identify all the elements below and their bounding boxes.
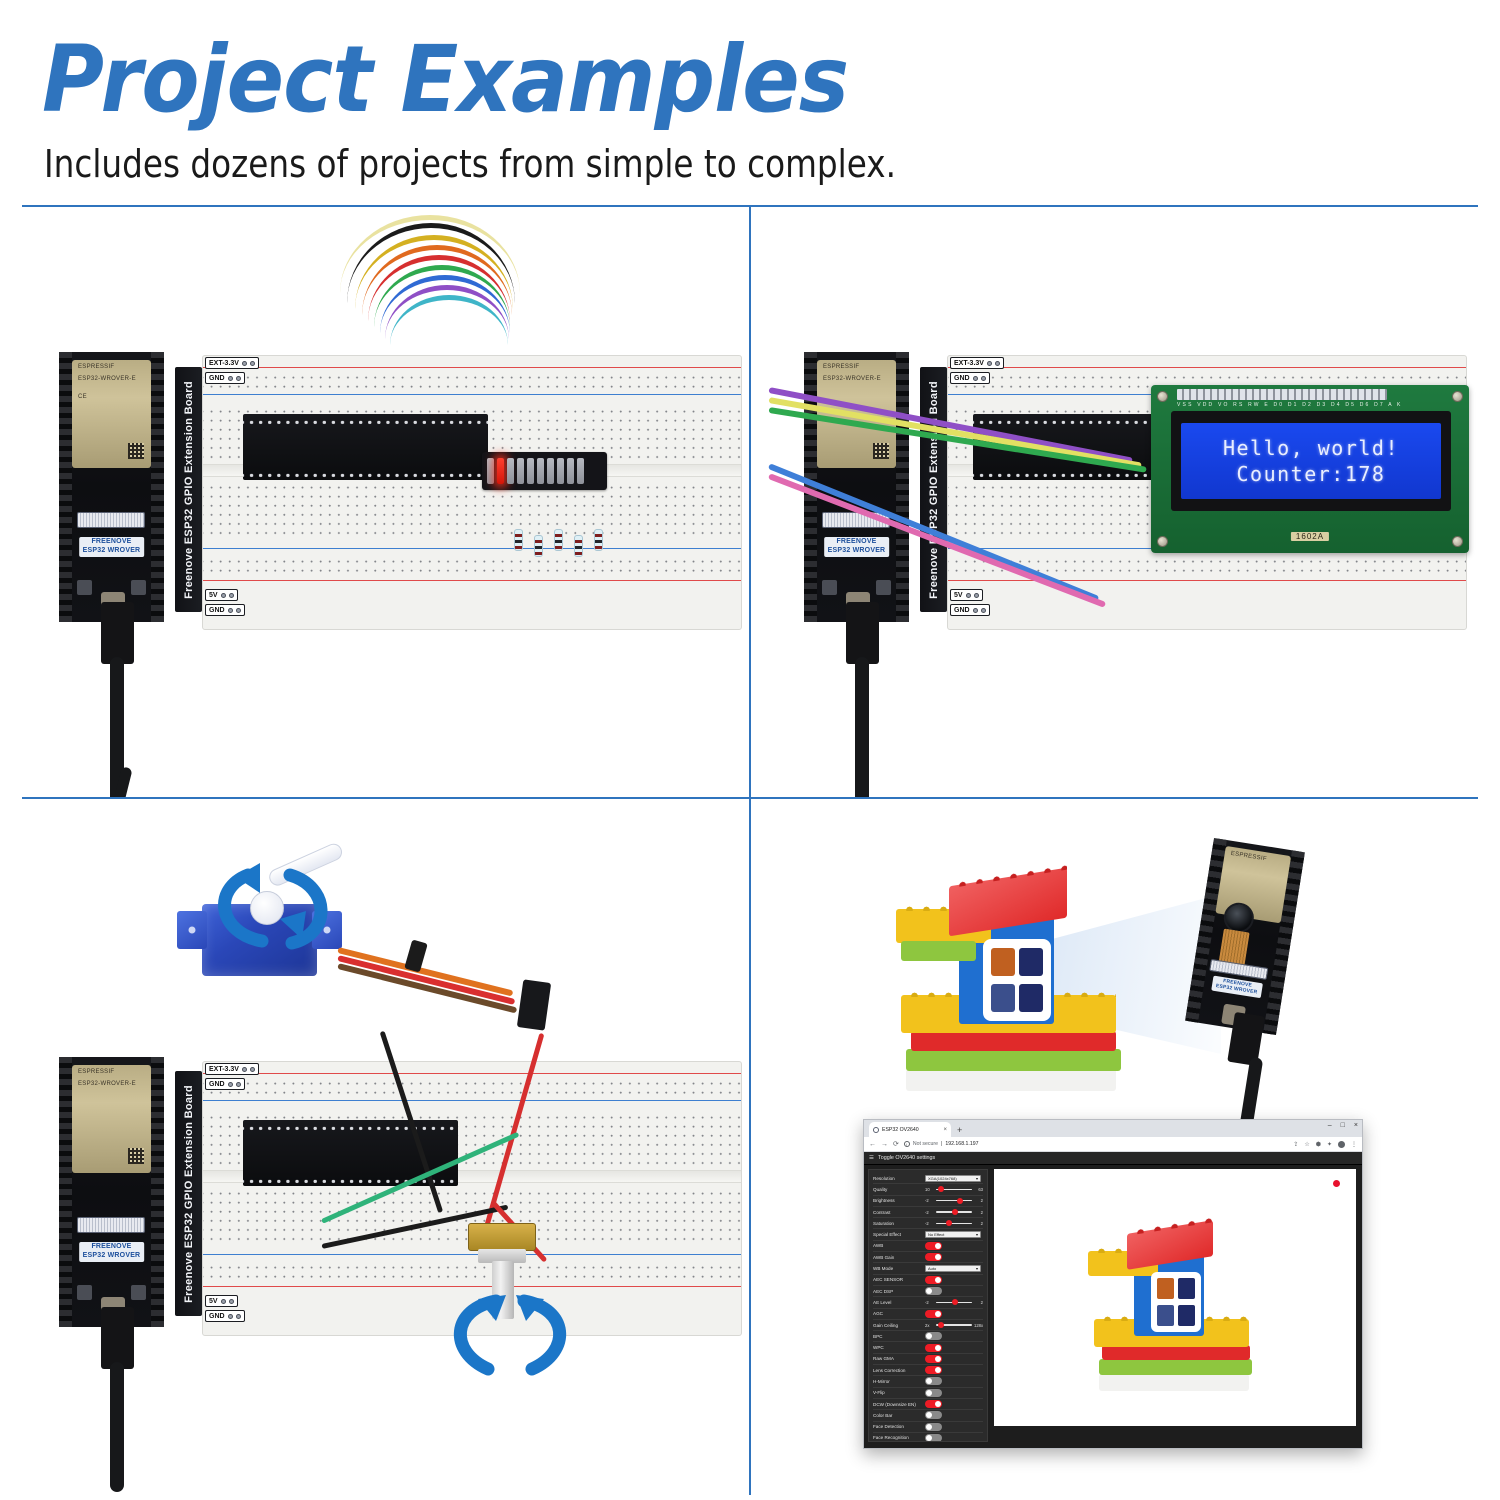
toggle-knob	[926, 1424, 932, 1430]
camera-ribbon-connector	[77, 512, 145, 528]
panel-camera-web-server: ESPRESSIF FREENOVE ESP32 WROVER ESP32 OV…	[751, 799, 1478, 1495]
resistor	[594, 529, 603, 551]
toolbar-icons: ⇪ ☆ ⬢ ✦ ⋮	[1293, 1141, 1357, 1148]
slider-knob[interactable]	[957, 1198, 963, 1204]
slider-ae-level[interactable]: -22	[925, 1300, 983, 1305]
freenove-line2: ESP32 WROVER	[83, 1252, 141, 1259]
slider-knob[interactable]	[952, 1299, 958, 1305]
setting-control	[925, 1411, 983, 1419]
rail-badge-gnd-top: GND	[950, 372, 990, 384]
toggle-dcw-downsize-en-[interactable]	[925, 1400, 942, 1408]
reset-button[interactable]	[131, 1285, 146, 1300]
slider-min-label: 10	[925, 1187, 934, 1192]
rail-badge-gnd-bottom: GND	[950, 604, 990, 616]
module-name-label: ESP32-WROVER-E	[78, 1081, 136, 1087]
back-icon[interactable]: ←	[869, 1141, 876, 1148]
toggle-knob	[935, 1356, 941, 1362]
bb-rail-red-bottom	[203, 1286, 741, 1287]
setting-control: No Effect▾	[925, 1231, 983, 1238]
freenove-silkscreen: FREENOVE ESP32 WROVER	[79, 537, 145, 557]
module-brand-label: ESPRESSIF	[78, 364, 114, 370]
gpio-pins-top	[243, 416, 488, 425]
toggle-lens-correction[interactable]	[925, 1366, 942, 1374]
freenove-line2: ESP32 WROVER	[83, 547, 141, 554]
select-value: Auto	[928, 1266, 936, 1271]
setting-control	[925, 1389, 983, 1397]
slider-contrast[interactable]: -22	[925, 1210, 983, 1215]
lego-base-green	[906, 1049, 1121, 1071]
rail-label-gnd-bottom: GND	[954, 607, 970, 614]
lego-shelf-green	[901, 941, 976, 961]
setting-control	[925, 1287, 983, 1295]
setting-row: WB ModeAuto▾	[873, 1263, 983, 1274]
bb-rail-blue-top	[203, 1100, 741, 1101]
lcd-pin-header	[1177, 389, 1387, 400]
resistor	[574, 535, 583, 557]
new-tab-icon[interactable]: +	[957, 1126, 962, 1137]
rail-badge-5v: 5V	[205, 1295, 238, 1307]
usb-cable	[110, 1362, 124, 1492]
setting-label: V-Flip	[873, 1390, 925, 1395]
slider-max-label: 2	[974, 1221, 983, 1226]
stream-lego-base-green	[1099, 1359, 1252, 1375]
rail-badge-ext33v: EXT-3.3V	[950, 357, 1004, 369]
camera-video-stream	[994, 1169, 1356, 1426]
slider-knob[interactable]	[938, 1322, 944, 1328]
setting-control: XGA(1024x768)▾	[925, 1175, 983, 1182]
ce-mark-label: CE	[78, 394, 87, 400]
toggle-knob	[935, 1254, 941, 1260]
select-resolution[interactable]: XGA(1024x768)▾	[925, 1175, 981, 1182]
slider-knob[interactable]	[938, 1186, 944, 1192]
setting-row: DCW (Downsize EN)	[873, 1399, 983, 1410]
toggle-bpc[interactable]	[925, 1332, 942, 1340]
lcd-line-1: Hello, world!	[1223, 436, 1399, 460]
url-separator: |	[941, 1141, 942, 1147]
module-qr-code	[128, 443, 144, 459]
share-icon[interactable]: ⇪	[1293, 1141, 1298, 1148]
setting-label: AEC DSP	[873, 1289, 925, 1294]
pin-rail-right	[151, 1057, 164, 1327]
setting-row: AE Level-22	[873, 1297, 983, 1308]
extension-board-label: Freenove ESP32 GPIO Extension Board	[928, 381, 940, 599]
led-segment	[507, 458, 514, 484]
gpio-pins-top	[243, 1122, 458, 1131]
rail-badge-5v: 5V	[205, 589, 238, 601]
slider-gain-ceiling[interactable]: 2x128x	[925, 1323, 983, 1328]
toggle-knob	[935, 1367, 941, 1373]
rotation-arrow-servo-right	[272, 861, 352, 951]
favicon-icon	[873, 1127, 879, 1133]
lego-base-white	[906, 1069, 1116, 1091]
setting-row: Gain Ceiling2x128x	[873, 1320, 983, 1331]
browser-tab-bar: ESP32 OV2640 × + – □ ×	[864, 1120, 1362, 1137]
freenove-silkscreen: FREENOVE ESP32 WROVER	[1211, 976, 1263, 998]
boot-button[interactable]	[822, 580, 837, 595]
slider-max-label: 2	[974, 1198, 983, 1203]
panel-servo-potentiometer: ESPRESSIF ESP32-WROVER-E FREENOVE ESP32 …	[22, 799, 749, 1495]
maximize-icon[interactable]: □	[1341, 1122, 1345, 1129]
usb-cable-plug	[101, 602, 134, 664]
window-pane-orange	[1157, 1278, 1174, 1299]
rotation-arrow-pot-right	[510, 1289, 588, 1379]
toggle-awb[interactable]	[925, 1242, 942, 1250]
setting-row: BPC	[873, 1331, 983, 1342]
servo-mount-hole	[189, 927, 196, 934]
usb-cable-plug	[101, 1307, 134, 1369]
hamburger-icon[interactable]: ☰	[869, 1155, 874, 1161]
lcd1602-module: VSS VDD VO RS RW E D0 D1 D2 D3 D4 D5 D6 …	[1151, 385, 1469, 553]
toggle-settings-bar[interactable]: ☰ Toggle OV2640 settings	[864, 1152, 1362, 1165]
setting-control	[925, 1344, 983, 1352]
led-segment	[557, 458, 564, 484]
toggle-knob	[935, 1277, 941, 1283]
resistor	[554, 529, 563, 551]
reset-button[interactable]	[876, 580, 891, 595]
boot-button[interactable]	[77, 1285, 92, 1300]
esp32-camera-board: ESPRESSIF FREENOVE ESP32 WROVER	[1185, 838, 1305, 1035]
pin-rail-right	[896, 352, 909, 622]
setting-row: WPC	[873, 1342, 983, 1353]
rail-badge-5v: 5V	[950, 589, 983, 601]
toggle-knob	[926, 1390, 932, 1396]
toggle-aec-sensor[interactable]	[925, 1276, 942, 1284]
slider-min-label: -2	[925, 1198, 934, 1203]
web-page-body: ☰ Toggle OV2640 settings ResolutionXGA(1…	[864, 1152, 1362, 1448]
slider-max-label: 2	[974, 1210, 983, 1215]
led-segment	[527, 458, 534, 484]
gpio-extension-board: Freenove ESP32 GPIO Extension Board	[175, 367, 202, 612]
slider-min-label: 2x	[925, 1323, 934, 1328]
info-icon[interactable]: i	[904, 1141, 910, 1147]
chevron-down-icon: ▾	[976, 1266, 978, 1271]
panel-led-bar-graph: ESPRESSIF ESP32-WROVER-E CE FREENOVE ESP…	[22, 207, 749, 797]
setting-row: Saturation-22	[873, 1218, 983, 1229]
led-segment	[547, 458, 554, 484]
module-name-label: ESP32-WROVER-E	[78, 376, 136, 382]
stream-lego-base-white	[1099, 1374, 1249, 1391]
window-controls: – □ ×	[1328, 1122, 1358, 1129]
setting-row: ResolutionXGA(1024x768)▾	[873, 1173, 983, 1184]
slider-min-label: -2	[925, 1210, 934, 1215]
rail-label-ext33v: EXT-3.3V	[209, 360, 239, 367]
extension-board-label: Freenove ESP32 GPIO Extension Board	[183, 1085, 195, 1303]
slider-knob[interactable]	[946, 1220, 952, 1226]
rail-label-gnd-bottom: GND	[209, 607, 225, 614]
setting-row: Special EffectNo Effect▾	[873, 1229, 983, 1240]
toggle-knob	[935, 1311, 941, 1317]
setting-control	[925, 1366, 983, 1374]
lego-studs	[949, 863, 1067, 889]
url-text: 192.168.1.197	[945, 1141, 978, 1147]
bb-rail-red-top	[948, 367, 1466, 368]
setting-label: H-Mirror	[873, 1379, 925, 1384]
setting-control: 1063	[925, 1187, 983, 1192]
lcd-screw-bl	[1157, 536, 1168, 547]
toggle-v-flip[interactable]	[925, 1389, 942, 1397]
gpio-extension-board: Freenove ESP32 GPIO Extension Board	[920, 367, 947, 612]
setting-label: Quality	[873, 1187, 925, 1192]
bb-rail-blue-bottom	[203, 548, 741, 549]
stream-lego-door-window	[1151, 1272, 1201, 1332]
slider-track[interactable]	[936, 1200, 972, 1201]
potentiometer-body[interactable]	[468, 1223, 536, 1251]
bb-power-holes-bottom	[203, 1260, 741, 1280]
extension-board-label: Freenove ESP32 GPIO Extension Board	[183, 381, 195, 599]
recording-indicator-dot	[1333, 1180, 1340, 1187]
toggle-color-bar[interactable]	[925, 1411, 942, 1419]
reload-icon[interactable]: ⟳	[893, 1140, 899, 1148]
led-segment	[577, 458, 584, 484]
slider-min-label: -2	[925, 1221, 934, 1226]
settings-rows: ResolutionXGA(1024x768)▾Quality1063Brigh…	[873, 1173, 983, 1442]
window-pane-dark-2	[1178, 1305, 1195, 1326]
bb-rail-blue-top	[203, 394, 741, 395]
select-value: No Effect	[928, 1232, 944, 1237]
setting-label: Lens Correction	[873, 1368, 925, 1373]
lcd-bezel: Hello, world! Counter:178	[1171, 411, 1451, 511]
rail-label-gnd-bottom: GND	[209, 1313, 225, 1320]
setting-label: DCW (Downsize EN)	[873, 1402, 925, 1407]
lcd-part-label: 1602A	[1291, 532, 1329, 541]
puzzle-icon[interactable]: ⬢	[1316, 1141, 1321, 1148]
setting-control: 2x128x	[925, 1323, 983, 1328]
setting-row: AEC DSP	[873, 1286, 983, 1297]
module-qr-code	[128, 1148, 144, 1164]
rail-label-5v: 5V	[954, 592, 963, 599]
slider-track[interactable]	[936, 1324, 972, 1325]
setting-row: V-Flip	[873, 1388, 983, 1399]
setting-label: WPC	[873, 1345, 925, 1350]
toggle-face-recognition[interactable]	[925, 1434, 942, 1442]
led-bar-graph-module	[482, 452, 607, 490]
forward-icon[interactable]: →	[881, 1141, 888, 1148]
rail-label-5v: 5V	[209, 1298, 218, 1305]
select-value: XGA(1024x768)	[928, 1176, 957, 1181]
rotation-arrow-pot-left	[434, 1289, 512, 1379]
setting-label: Special Effect	[873, 1232, 925, 1237]
window-pane-dark-1	[1178, 1278, 1195, 1299]
setting-row: Brightness-22	[873, 1196, 983, 1207]
usb-cable-plug	[846, 602, 879, 664]
freenove-silkscreen: FREENOVE ESP32 WROVER	[824, 537, 890, 557]
toggle-wpc[interactable]	[925, 1344, 942, 1352]
freenove-line2: ESP32 WROVER	[828, 547, 886, 554]
module-qr-code	[873, 443, 889, 459]
setting-label: AWB	[873, 1243, 925, 1248]
breadboard	[202, 355, 742, 630]
setting-control	[925, 1400, 983, 1408]
page-title: Project Examples	[42, 26, 848, 133]
toggle-knob	[935, 1401, 941, 1407]
setting-row: Quality1063	[873, 1184, 983, 1195]
setting-row: Raw GMA	[873, 1354, 983, 1365]
close-window-icon[interactable]: ×	[1354, 1122, 1358, 1129]
toggle-knob	[926, 1412, 932, 1418]
slider-max-label: 63	[974, 1187, 983, 1192]
setting-label: AE Level	[873, 1300, 925, 1305]
toggle-knob	[935, 1243, 941, 1249]
rail-badge-gnd-top: GND	[205, 1078, 245, 1090]
select-wb-mode[interactable]: Auto▾	[925, 1265, 981, 1272]
lcd-line-2: Counter:178	[1237, 462, 1386, 486]
module-brand-label: ESPRESSIF	[823, 364, 859, 370]
panel-lcd1602: ESPRESSIF ESP32-WROVER-E FREENOVE ESP32 …	[751, 207, 1478, 797]
usb-cable	[855, 657, 869, 797]
led-segment	[497, 458, 504, 484]
module-name-label: ESP32-WROVER-E	[823, 376, 881, 382]
toggle-h-mirror[interactable]	[925, 1377, 942, 1385]
setting-row: Face Recognition	[873, 1433, 983, 1442]
slider-min-label: -2	[925, 1300, 934, 1305]
camera-ribbon-connector	[77, 1217, 145, 1233]
select-special-effect[interactable]: No Effect▾	[925, 1231, 981, 1238]
star-icon[interactable]: ☆	[1304, 1141, 1309, 1148]
setting-control: -22	[925, 1300, 983, 1305]
profile-icon[interactable]	[1338, 1141, 1345, 1148]
tab-close-icon[interactable]: ×	[943, 1127, 947, 1133]
led-segment	[487, 458, 494, 484]
toggle-agc[interactable]	[925, 1310, 942, 1318]
slider-track[interactable]	[936, 1302, 972, 1303]
rail-badge-ext33v: EXT-3.3V	[205, 1063, 259, 1075]
window-pane-blue	[991, 984, 1015, 1012]
toggle-raw-gma[interactable]	[925, 1355, 942, 1363]
slider-knob[interactable]	[952, 1209, 958, 1215]
lcd-screen: Hello, world! Counter:178	[1181, 423, 1441, 499]
freenove-line1: FREENOVE	[91, 538, 131, 545]
pin-rail-right	[151, 352, 164, 622]
pin-rail-left	[59, 1057, 72, 1327]
chevron-down-icon: ▾	[976, 1232, 978, 1237]
menu-icon[interactable]: ⋮	[1351, 1141, 1357, 1148]
browser-tab[interactable]: ESP32 OV2640 ×	[869, 1122, 951, 1137]
stream-lego-base-red	[1102, 1345, 1250, 1360]
slider-track[interactable]	[936, 1189, 972, 1190]
lego-door-window	[983, 939, 1051, 1021]
setting-control	[925, 1242, 983, 1250]
esp32-wrover-module: ESPRESSIF ESP32-WROVER-E CE	[72, 360, 151, 468]
setting-row: AWB	[873, 1241, 983, 1252]
setting-row: AEC SENSOR	[873, 1275, 983, 1286]
address-bar[interactable]: i Not secure | 192.168.1.197	[904, 1141, 1288, 1147]
setting-label: Face Detection	[873, 1424, 925, 1429]
led-segment	[537, 458, 544, 484]
esp32-board-led: ESPRESSIF ESP32-WROVER-E CE FREENOVE ESP…	[59, 352, 164, 622]
rail-label-gnd-top: GND	[209, 375, 225, 382]
lcd-pin-labels: VSS VDD VO RS RW E D0 D1 D2 D3 D4 D5 D6 …	[1177, 402, 1403, 408]
toggle-knob	[935, 1345, 941, 1351]
slider-max-label: 128x	[974, 1323, 983, 1328]
rail-label-5v: 5V	[209, 592, 218, 599]
browser-toolbar: ← → ⟳ i Not secure | 192.168.1.197 ⇪ ☆ ⬢…	[864, 1137, 1362, 1152]
setting-label: Gain Ceiling	[873, 1323, 925, 1328]
chevron-down-icon: ▾	[976, 1176, 978, 1181]
lcd-screw-tl	[1157, 391, 1168, 402]
page-header: Project Examples Includes dozens of proj…	[0, 0, 1500, 200]
setting-row: AWB Gain	[873, 1252, 983, 1263]
setting-row: AGC	[873, 1309, 983, 1320]
setting-row: Lens Correction	[873, 1365, 983, 1376]
slider-brightness[interactable]: -22	[925, 1198, 983, 1203]
ov2640-settings-panel: ResolutionXGA(1024x768)▾Quality1063Brigh…	[868, 1169, 988, 1442]
toggle-face-detection[interactable]	[925, 1423, 942, 1431]
lego-base-red	[911, 1031, 1116, 1051]
browser-window: ESP32 OV2640 × + – □ × ← → ⟳ i Not secur…	[863, 1119, 1363, 1449]
setting-control	[925, 1434, 983, 1442]
setting-label: BPC	[873, 1334, 925, 1339]
lcd-screw-br	[1452, 536, 1463, 547]
setting-label: Resolution	[873, 1176, 925, 1181]
rail-badge-ext33v: EXT-3.3V	[205, 357, 259, 369]
rail-badge-gnd-top: GND	[205, 372, 245, 384]
led-segment	[517, 458, 524, 484]
setting-control	[925, 1310, 983, 1318]
setting-label: AWB Gain	[873, 1255, 925, 1260]
setting-label: AGC	[873, 1311, 925, 1316]
slider-quality[interactable]: 1063	[925, 1187, 983, 1192]
toggle-aec-dsp[interactable]	[925, 1287, 942, 1295]
bb-rail-red-top	[203, 367, 741, 368]
module-brand-label: ESPRESSIF	[78, 1069, 114, 1075]
setting-label: Color Bar	[873, 1413, 925, 1418]
servo-connector	[517, 979, 551, 1030]
rail-label-ext33v: EXT-3.3V	[209, 1066, 239, 1073]
toggle-knob	[926, 1378, 932, 1384]
setting-control	[925, 1276, 983, 1284]
bb-rail-red-bottom	[948, 580, 1466, 581]
rail-label-gnd-top: GND	[954, 375, 970, 382]
window-pane-dark-1	[1019, 948, 1043, 976]
setting-row: Color Bar	[873, 1410, 983, 1421]
setting-control	[925, 1332, 983, 1340]
setting-control: Auto▾	[925, 1265, 983, 1272]
setting-row: H-Mirror	[873, 1376, 983, 1387]
bb-rail-red-bottom	[203, 580, 741, 581]
toggle-settings-label: Toggle OV2640 settings	[878, 1155, 935, 1161]
slider-track[interactable]	[936, 1211, 972, 1212]
esp32-wrover-module: ESPRESSIF ESP32-WROVER-E	[72, 1065, 151, 1173]
slider-max-label: 2	[974, 1300, 983, 1305]
window-pane-orange	[991, 948, 1015, 976]
minimize-icon[interactable]: –	[1328, 1122, 1332, 1129]
reset-button[interactable]	[131, 580, 146, 595]
setting-label: Face Recognition	[873, 1435, 925, 1440]
setting-label: AEC SENSOR	[873, 1277, 925, 1282]
slider-saturation[interactable]: -22	[925, 1221, 983, 1226]
setting-row: Contrast-22	[873, 1207, 983, 1218]
setting-row: Face Detection	[873, 1422, 983, 1433]
bb-power-holes-top	[203, 370, 741, 390]
pin-rail-left	[59, 352, 72, 622]
gpio-header-block	[243, 414, 488, 480]
boot-button[interactable]	[77, 580, 92, 595]
rail-badge-gnd-bottom: GND	[205, 1310, 245, 1322]
servo-wire-red	[337, 955, 515, 1005]
resistor	[534, 535, 543, 557]
slider-track[interactable]	[936, 1223, 972, 1224]
setting-control	[925, 1355, 983, 1363]
toggle-awb-gain[interactable]	[925, 1253, 942, 1261]
resistor	[514, 529, 523, 551]
page-subtitle: Includes dozens of projects from simple …	[44, 142, 896, 186]
tab-title: ESP32 OV2640	[882, 1127, 919, 1133]
freenove-line1: FREENOVE	[91, 1243, 131, 1250]
extensions-icon[interactable]: ✦	[1327, 1141, 1332, 1148]
toggle-knob	[926, 1288, 932, 1294]
setting-label: WB Mode	[873, 1266, 925, 1271]
gpio-pins-bottom	[243, 469, 488, 478]
